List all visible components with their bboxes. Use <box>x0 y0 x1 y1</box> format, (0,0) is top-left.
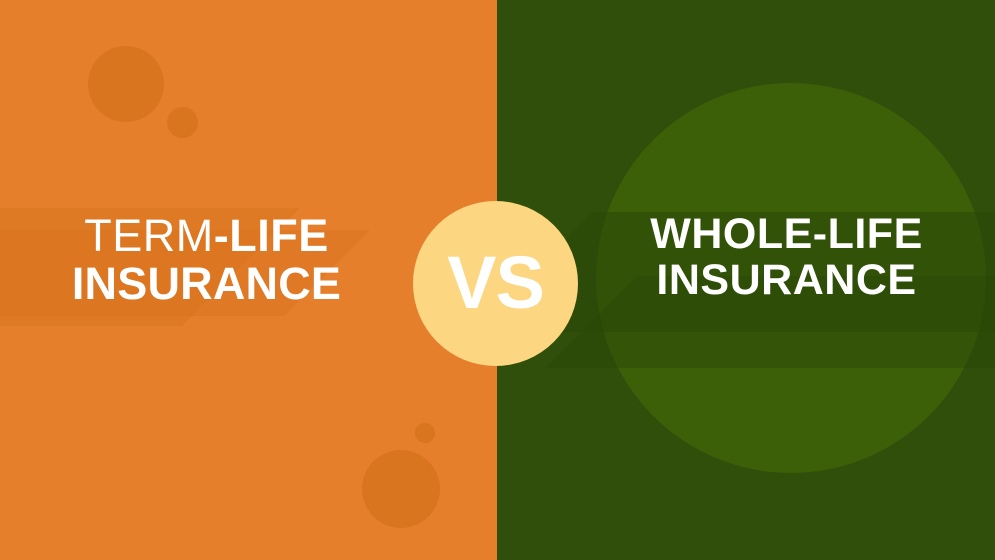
decorative-circle-bottom-left-large <box>362 450 440 528</box>
decorative-circle-bottom-left-small <box>415 423 435 443</box>
term-life-heading-line-2: INSURANCE <box>0 260 413 308</box>
versus-badge-label: VS <box>447 246 544 320</box>
whole-life-heading-line-1: WHOLE-LIFE <box>578 212 995 258</box>
comparison-banner: TERM-LIFE INSURANCE WHOLE-LIFE INSURANCE… <box>0 0 995 560</box>
versus-badge: VS <box>413 201 578 366</box>
term-life-heading: TERM-LIFE INSURANCE <box>0 212 413 307</box>
term-life-heading-word-life: -LIFE <box>214 210 329 261</box>
whole-life-heading-line-2: INSURANCE <box>578 258 995 304</box>
decorative-circle-top-left-large <box>88 46 164 122</box>
whole-life-heading: WHOLE-LIFE INSURANCE <box>578 212 995 303</box>
term-life-heading-line-1: TERM-LIFE <box>0 212 413 260</box>
decorative-circle-top-left-small <box>167 107 198 138</box>
term-life-heading-word-term: TERM <box>84 210 214 261</box>
